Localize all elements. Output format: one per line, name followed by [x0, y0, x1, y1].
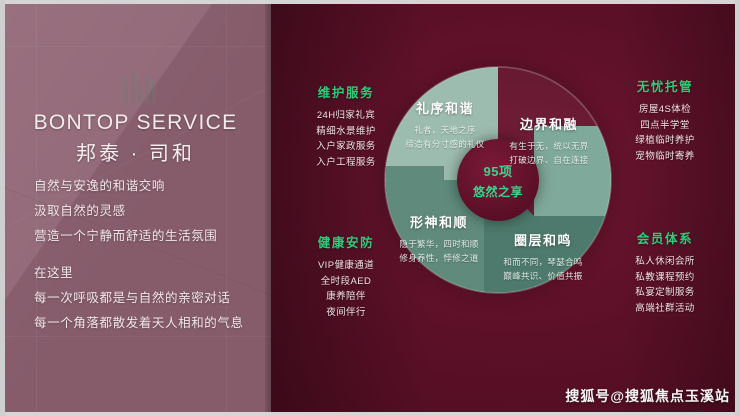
- copy-line: 在这里: [34, 261, 264, 286]
- service-diagram-panel: 维护服务 24H归家礼宾 精细水景维护 入户家政服务 入户工程服务 健康安防 V…: [271, 0, 740, 416]
- quadrant-line: 打破边界、自在连接: [486, 153, 612, 167]
- service-group-trustee: 无忧托管 房屋4S体检 四点半学堂 绿植临时养护 宠物临时寄养: [609, 76, 721, 164]
- copy-line: 自然与安逸的和谐交响: [34, 174, 264, 199]
- quadrant-title: 形神和顺: [376, 212, 502, 231]
- page-frame-right: [735, 0, 740, 416]
- group-item: 绿植临时养护: [609, 133, 721, 149]
- panel-crease: [0, 46, 271, 47]
- quadrant-title: 边界和融: [486, 114, 612, 133]
- panel-crease: [0, 336, 271, 337]
- service-wheel-diagram: 95项 悠然之享 礼序和谐 礼者，天地之序 缔造有分寸感的礼仪 边界和融 有生于…: [384, 66, 612, 294]
- group-item: 私教课程预约: [609, 270, 721, 286]
- group-item: 私宴定制服务: [609, 285, 721, 301]
- quadrant-title: 圈层和鸣: [480, 230, 606, 249]
- copy-line: 每一个角落都散发着天人相和的气息: [34, 311, 264, 336]
- copy-line: 营造一个宁静而舒适的生活氛围: [34, 224, 264, 249]
- group-title: 会员体系: [609, 228, 721, 247]
- page-frame-left: [0, 0, 5, 416]
- brand-title-cn: 邦泰 · 司和: [0, 137, 271, 166]
- hub-label: 悠然之享: [473, 183, 523, 200]
- quadrant-line: 有生于无，统以无界: [486, 139, 612, 153]
- bg-vignette-right: [620, 0, 740, 416]
- quadrant-line: 巅峰共识、价值共振: [480, 269, 606, 283]
- quadrant-line: 和而不同，琴瑟合鸣: [480, 255, 606, 269]
- left-brand-panel: BONTOP SERVICE 邦泰 · 司和 自然与安逸的和谐交响 汲取自然的灵…: [0, 0, 271, 416]
- group-item: 宠物临时寄养: [609, 149, 721, 165]
- page-frame-bottom: [0, 412, 740, 416]
- page-frame-top: [0, 0, 740, 4]
- group-item: 四点半学堂: [609, 118, 721, 134]
- group-item: 私人休闲会所: [609, 254, 721, 270]
- slide-canvas: BONTOP SERVICE 邦泰 · 司和 自然与安逸的和谐交响 汲取自然的灵…: [0, 0, 740, 416]
- brand-copy: 自然与安逸的和谐交响 汲取自然的灵感 营造一个宁静而舒适的生活氛围 在这里 每一…: [34, 174, 264, 336]
- group-item: 夜间伴行: [290, 305, 402, 321]
- wheel-quadrant-bottom-right: 圈层和鸣 和而不同，琴瑟合鸣 巅峰共识、价值共振: [480, 230, 606, 283]
- copy-line: 汲取自然的灵感: [34, 199, 264, 224]
- brand-title-en: BONTOP SERVICE: [0, 111, 271, 135]
- group-title: 无忧托管: [609, 76, 721, 95]
- group-item: 房屋4S体检: [609, 102, 721, 118]
- group-item: 高端社群活动: [609, 301, 721, 317]
- copy-line: 每一次呼吸都是与自然的亲密对话: [34, 286, 264, 311]
- wheel-quadrant-top-right: 边界和融 有生于无，统以无界 打破边界、自在连接: [486, 114, 612, 167]
- service-group-membership: 会员体系 私人休闲会所 私教课程预约 私宴定制服务 高端社群活动: [609, 228, 721, 316]
- bontop-bars-logo-icon: [118, 70, 162, 104]
- copy-spacer: [34, 249, 264, 261]
- source-watermark: 搜狐号@搜狐焦点玉溪站: [565, 386, 730, 406]
